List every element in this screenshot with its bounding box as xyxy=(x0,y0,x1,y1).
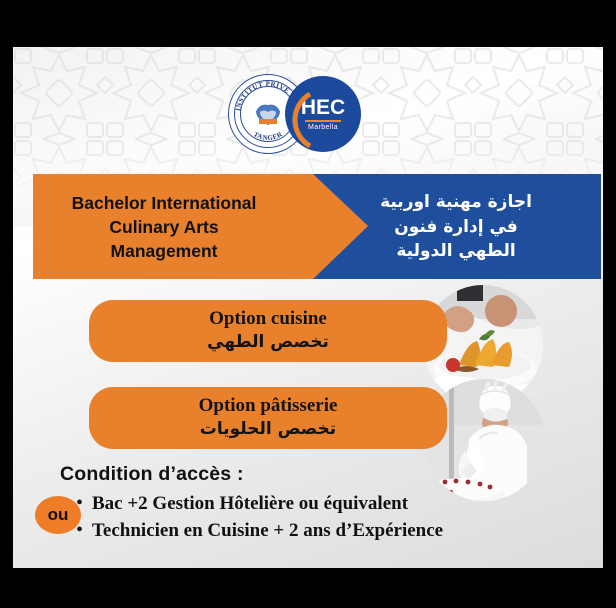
banner-fr-line3: Management xyxy=(111,239,218,263)
banner-arabic-title: اجازة مهنية اوربية في إدارة فنون الطهي ا… xyxy=(331,177,581,277)
condition-item-1-text: Bac +2 Gestion Hôtelière ou équivalent xyxy=(92,491,408,517)
banner-fr-line1: Bachelor International xyxy=(72,191,257,215)
option-patisserie-pill[interactable]: Option pâtisserie تخصص الحلويات xyxy=(89,387,447,449)
logo-group: INSTITUT PRIVÉ MÉD TANGER HEC Marbella xyxy=(228,74,388,154)
option-cuisine-pill[interactable]: Option cuisine تخصص الطهي xyxy=(89,300,447,362)
option-patisserie-arabic: تخصص الحلويات xyxy=(200,419,336,440)
option-cuisine-french: Option cuisine xyxy=(209,309,327,330)
condition-item-2-text: Technicien en Cuisine + 2 ans d’Expérien… xyxy=(92,518,443,544)
ou-connector-badge: ou xyxy=(35,496,81,534)
ou-label: ou xyxy=(48,505,69,525)
flyer-card: INSTITUT PRIVÉ MÉD TANGER HEC Marbella xyxy=(13,47,603,568)
hec-orange-arc-icon xyxy=(272,92,320,148)
banner-fr-line2: Culinary Arts xyxy=(109,215,218,239)
option-patisserie-french: Option pâtisserie xyxy=(199,396,338,417)
conditions-list: • Bac +2 Gestion Hôtelière ou équivalent… xyxy=(76,491,443,544)
bullet-icon: • xyxy=(76,493,92,513)
banner-ar-line1: اجازة مهنية اوربية xyxy=(380,190,532,215)
bullet-icon: • xyxy=(76,520,92,540)
banner-french-title: Bachelor International Culinary Arts Man… xyxy=(33,179,295,275)
banner-ar-line3: الطهي الدولية xyxy=(396,239,515,264)
banner-ar-line2: في إدارة فنون xyxy=(394,215,518,240)
conditions-title: Condition d’accès : xyxy=(60,463,244,486)
option-cuisine-arabic: تخصص الطهي xyxy=(207,332,329,353)
condition-item: • Bac +2 Gestion Hôtelière ou équivalent xyxy=(76,491,443,517)
condition-item: • Technicien en Cuisine + 2 ans d’Expéri… xyxy=(76,518,443,544)
poster-root: INSTITUT PRIVÉ MÉD TANGER HEC Marbella xyxy=(0,0,616,608)
